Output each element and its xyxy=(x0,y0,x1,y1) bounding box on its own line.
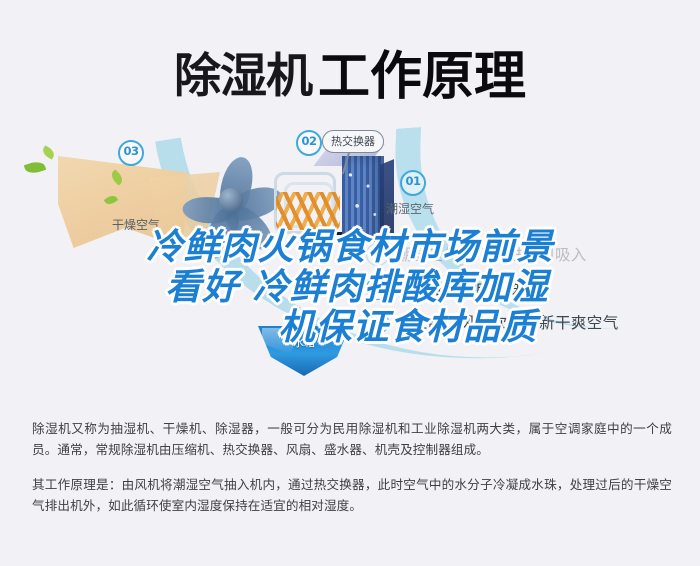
step-text: 从上部出风口吹出清新干爽空气 xyxy=(396,311,619,333)
step-list: 01 潮湿空气由下部进风口吸入 02 蒸发器冷凝成水珠 03 从上部出风口吹出清… xyxy=(366,237,696,339)
list-item: 02 蒸发器冷凝成水珠 xyxy=(366,271,696,305)
diagram-step-marker-02: 02 xyxy=(296,130,322,156)
page-title-part-b: 工作原理 xyxy=(318,47,526,107)
leaf-icon xyxy=(24,159,46,176)
article-paragraph-2: 其工作原理是：由风机将潮湿空气抽入机内，通过热交换器，此时空气中的水分子冷凝成水… xyxy=(32,474,672,516)
diagram-step-marker-03: 03 xyxy=(118,140,144,166)
article-paragraph-1: 除湿机又称为抽湿机、干燥机、除湿器，一般可分为民用除湿机和工业除湿机两大类，属于… xyxy=(32,418,672,460)
step-number: 01 xyxy=(366,243,389,266)
step-text: 蒸发器冷凝成水珠 xyxy=(396,277,523,299)
dry-air-label: 干燥空气 xyxy=(112,216,160,233)
diagram-step-marker-01: 01 xyxy=(400,170,426,196)
list-item: 01 潮湿空气由下部进风口吸入 xyxy=(366,237,696,271)
list-item: 03 从上部出风口吹出清新干爽空气 xyxy=(366,305,696,339)
heat-exchanger-callout: 热交换器 xyxy=(322,130,384,153)
step-number: 02 xyxy=(366,277,389,300)
step-text: 潮湿空气由下部进风口吸入 xyxy=(396,243,587,265)
page-title-part-a: 除湿机 xyxy=(174,49,312,104)
step-number: 03 xyxy=(366,311,389,334)
page-title: 除湿机工作原理 xyxy=(0,34,700,109)
water-tank-label: 水箱 xyxy=(258,334,350,350)
leaf-icon xyxy=(41,145,57,159)
humid-air-label: 潮湿空气 xyxy=(386,200,434,217)
infographic-poster: 除湿机工作原理 热交换器 xyxy=(0,0,700,566)
article-body: 除湿机又称为抽湿机、干燥机、除湿器，一般可分为民用除湿机和工业除湿机两大类，属于… xyxy=(32,418,672,530)
